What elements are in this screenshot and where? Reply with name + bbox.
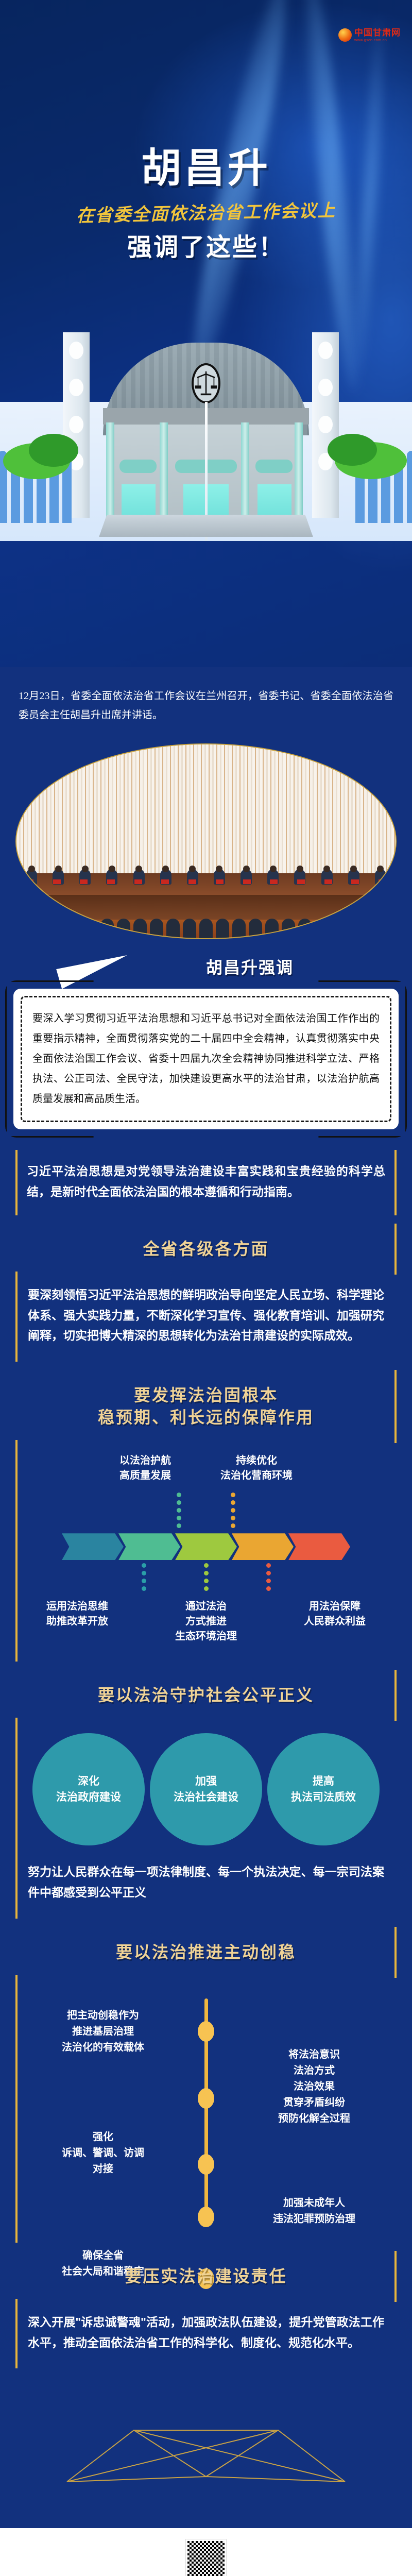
- speaker-callout-header: 胡昌升强调: [0, 939, 412, 989]
- courthouse-illustration: [0, 319, 412, 541]
- section1-title: 全省各级各方面: [21, 1238, 391, 1260]
- section3-circles: 深化 法治政府建设 加强 法治社会建设 提高 执法司法质效: [15, 1733, 397, 1845]
- site-logo[interactable]: 中国甘肃网 www.gscn.com.cn: [338, 28, 401, 42]
- site-name: 中国甘肃网: [354, 28, 401, 37]
- quote-paragraph: 要深入学习贯彻习近平法治思想和习近平总书记对全面依法治国工作作出的重要指示精神，…: [32, 1009, 380, 1109]
- circle-item-3[interactable]: 提高 执法司法质效: [267, 1733, 380, 1845]
- site-url: www.gscn.com.cn: [354, 38, 401, 42]
- timeline-node-2: [198, 2088, 214, 2109]
- chevron-bottom-connectors: [15, 1563, 397, 1591]
- section4-title-wrap: 要以法治推进主动创稳: [15, 1932, 397, 1975]
- section4-timeline: 把主动创稳作为 推进基层治理 法治化的有效载体 将法治意识 法治方式 法治效果 …: [15, 1975, 397, 2243]
- hero-section: 中国甘肃网 www.gscn.com.cn 胡昌升 在省委全面依法治省工作会议上…: [0, 0, 412, 667]
- section2-title: 要发挥法治固根本 稳预期、利长远的保障作用: [21, 1384, 391, 1429]
- intro-section: 12月23日，省委全面依法治省工作会议在兰州召开，省委书记、省委全面依法治省委员…: [0, 667, 412, 740]
- chevron-bottom-label-1: 运用法治思维 助推改革开放: [28, 1599, 126, 1644]
- timeline-item-3: 强化 诉调、警调、访调 对接: [26, 2129, 180, 2177]
- section2-chevron-chart: 以法治护航 高质量发展 持续优化 法治化营商环境 运: [15, 1440, 397, 1662]
- section3-circles-wrap: 深化 法治政府建设 加强 法治社会建设 提高 执法司法质效: [15, 1718, 397, 1849]
- chevron-top-labels: 以法治护航 高质量发展 持续优化 法治化营商环境: [15, 1453, 397, 1483]
- section2-title-line1: 要发挥法治固根本: [134, 1386, 278, 1404]
- page-subtitle: 在省委全面依法治省工作会议上: [0, 195, 412, 229]
- chevron-top-connectors: [15, 1493, 397, 1528]
- chevron-bottom-label-2: 通过法治 方式推进 生态环境治理: [157, 1599, 255, 1644]
- circle-item-2[interactable]: 加强 法治社会建设: [150, 1733, 262, 1845]
- page-footer: 中国甘肃网 新闻客户端: [0, 2528, 412, 2576]
- tower-right: [312, 332, 339, 518]
- photo-section: [0, 740, 412, 939]
- chevron-top-label-2: 持续优化 法治化营商环境: [220, 1453, 293, 1483]
- flame-circle-icon: [338, 28, 352, 42]
- chevron-4: [232, 1533, 294, 1560]
- chevron-bottom-labels: 运用法治思维 助推改革开放 通过法治 方式推进 生态环境治理 用法治保障 人民群…: [15, 1599, 397, 1644]
- circle-item-1[interactable]: 深化 法治政府建设: [32, 1733, 145, 1845]
- timeline-node-1: [198, 2021, 214, 2042]
- page-title-secondary: 强调了这些！: [0, 227, 412, 263]
- chevron-3: [175, 1533, 237, 1560]
- section1-paragraph: 要深刻领悟习近平法治思想的鲜明政治导向坚定人民立场、科学理论体系、强大实践力量，…: [28, 1285, 384, 1346]
- section1-title-wrap: 全省各级各方面: [15, 1229, 397, 1272]
- section2-title-wrap: 要发挥法治固根本 稳预期、利长远的保障作用: [15, 1375, 397, 1440]
- scales-of-justice-icon: [192, 363, 220, 403]
- section1-body: 要深刻领悟习近平法治思想的鲜明政治导向坚定人民立场、科学理论体系、强大实践力量，…: [15, 1272, 397, 1362]
- speaker-callout-label: 胡昌升强调: [206, 955, 294, 978]
- timeline-item-4: 加强未成年人 违法犯罪预防治理: [237, 2195, 391, 2227]
- thought-block: 习近平法治思想是对党领导法治建设丰富实践和宝贵经验的科学总结，是新时代全面依法治…: [15, 1150, 397, 1215]
- chevron-top-label-1: 以法治护航 高质量发展: [119, 1453, 171, 1483]
- infographic-page: 中国甘肃网 www.gscn.com.cn 胡昌升 在省委全面依法治省工作会议上…: [0, 0, 412, 2576]
- quote-card: 要深入学习贯彻习近平法治思想和习近平总书记对全面依法治国工作作出的重要指示精神，…: [13, 989, 399, 1129]
- intro-paragraph: 12月23日，省委全面依法治省工作会议在兰州召开，省委书记、省委全面依法治省委员…: [19, 687, 393, 725]
- chevron-2: [118, 1533, 180, 1560]
- timeline-item-2: 将法治意识 法治方式 法治效果 贯穿矛盾纠纷 预防化解全过程: [237, 2047, 391, 2127]
- meeting-photo: [15, 743, 397, 939]
- timeline-node-3: [198, 2154, 214, 2175]
- pointer-arrow-icon: [56, 949, 131, 989]
- section5-body: 深入开展"诉忠诚警魂"活动，加强政法队伍建设，提升党管政法工作水平，推动全面依法…: [15, 2299, 397, 2368]
- audience: [16, 894, 396, 938]
- nameplates: [26, 879, 386, 885]
- people-network-illustration: [0, 2374, 412, 2528]
- timeline-item-1: 把主动创稳作为 推进基层治理 法治化的有效载体: [26, 2008, 180, 2056]
- page-title: 胡昌升: [0, 136, 412, 194]
- quote-card-section: 要深入学习贯彻习近平法治思想和习近平总书记对全面依法治国工作作出的重要指示精神，…: [0, 989, 412, 1150]
- section2-title-line2: 稳预期、利长远的保障作用: [98, 1408, 314, 1427]
- chevron-5: [288, 1533, 350, 1560]
- section3-title: 要以法治守护社会公平正义: [21, 1684, 391, 1706]
- network-lines: [31, 2410, 381, 2497]
- chevron-bottom-label-3: 用法治保障 人民群众利益: [286, 1599, 384, 1644]
- section3-paragraph: 努力让人民群众在每一项法律制度、每一个执法决定、每一宗司法案件中都感受到公平正义: [28, 1862, 384, 1903]
- chevron-1: [62, 1533, 124, 1560]
- section5-title: 要压实法治建设责任: [21, 2265, 391, 2287]
- thought-paragraph: 习近平法治思想是对党领导法治建设丰富实践和宝贵经验的科学总结，是新时代全面依法治…: [27, 1161, 385, 1202]
- section3-title-wrap: 要以法治守护社会公平正义: [15, 1675, 397, 1718]
- section5-title-wrap: 要压实法治建设责任: [15, 2256, 397, 2299]
- section4-title: 要以法治推进主动创稳: [21, 1941, 391, 1963]
- section3-body: 努力让人民群众在每一项法律制度、每一个执法决定、每一宗司法案件中都感受到公平正义: [15, 1849, 397, 1918]
- timeline-node-4: [198, 2207, 214, 2227]
- qr-code-icon[interactable]: [186, 2539, 226, 2576]
- section5-paragraph: 深入开展"诉忠诚警魂"活动，加强政法队伍建设，提升党管政法工作水平，推动全面依法…: [28, 2312, 384, 2353]
- chevron-row: [15, 1533, 397, 1560]
